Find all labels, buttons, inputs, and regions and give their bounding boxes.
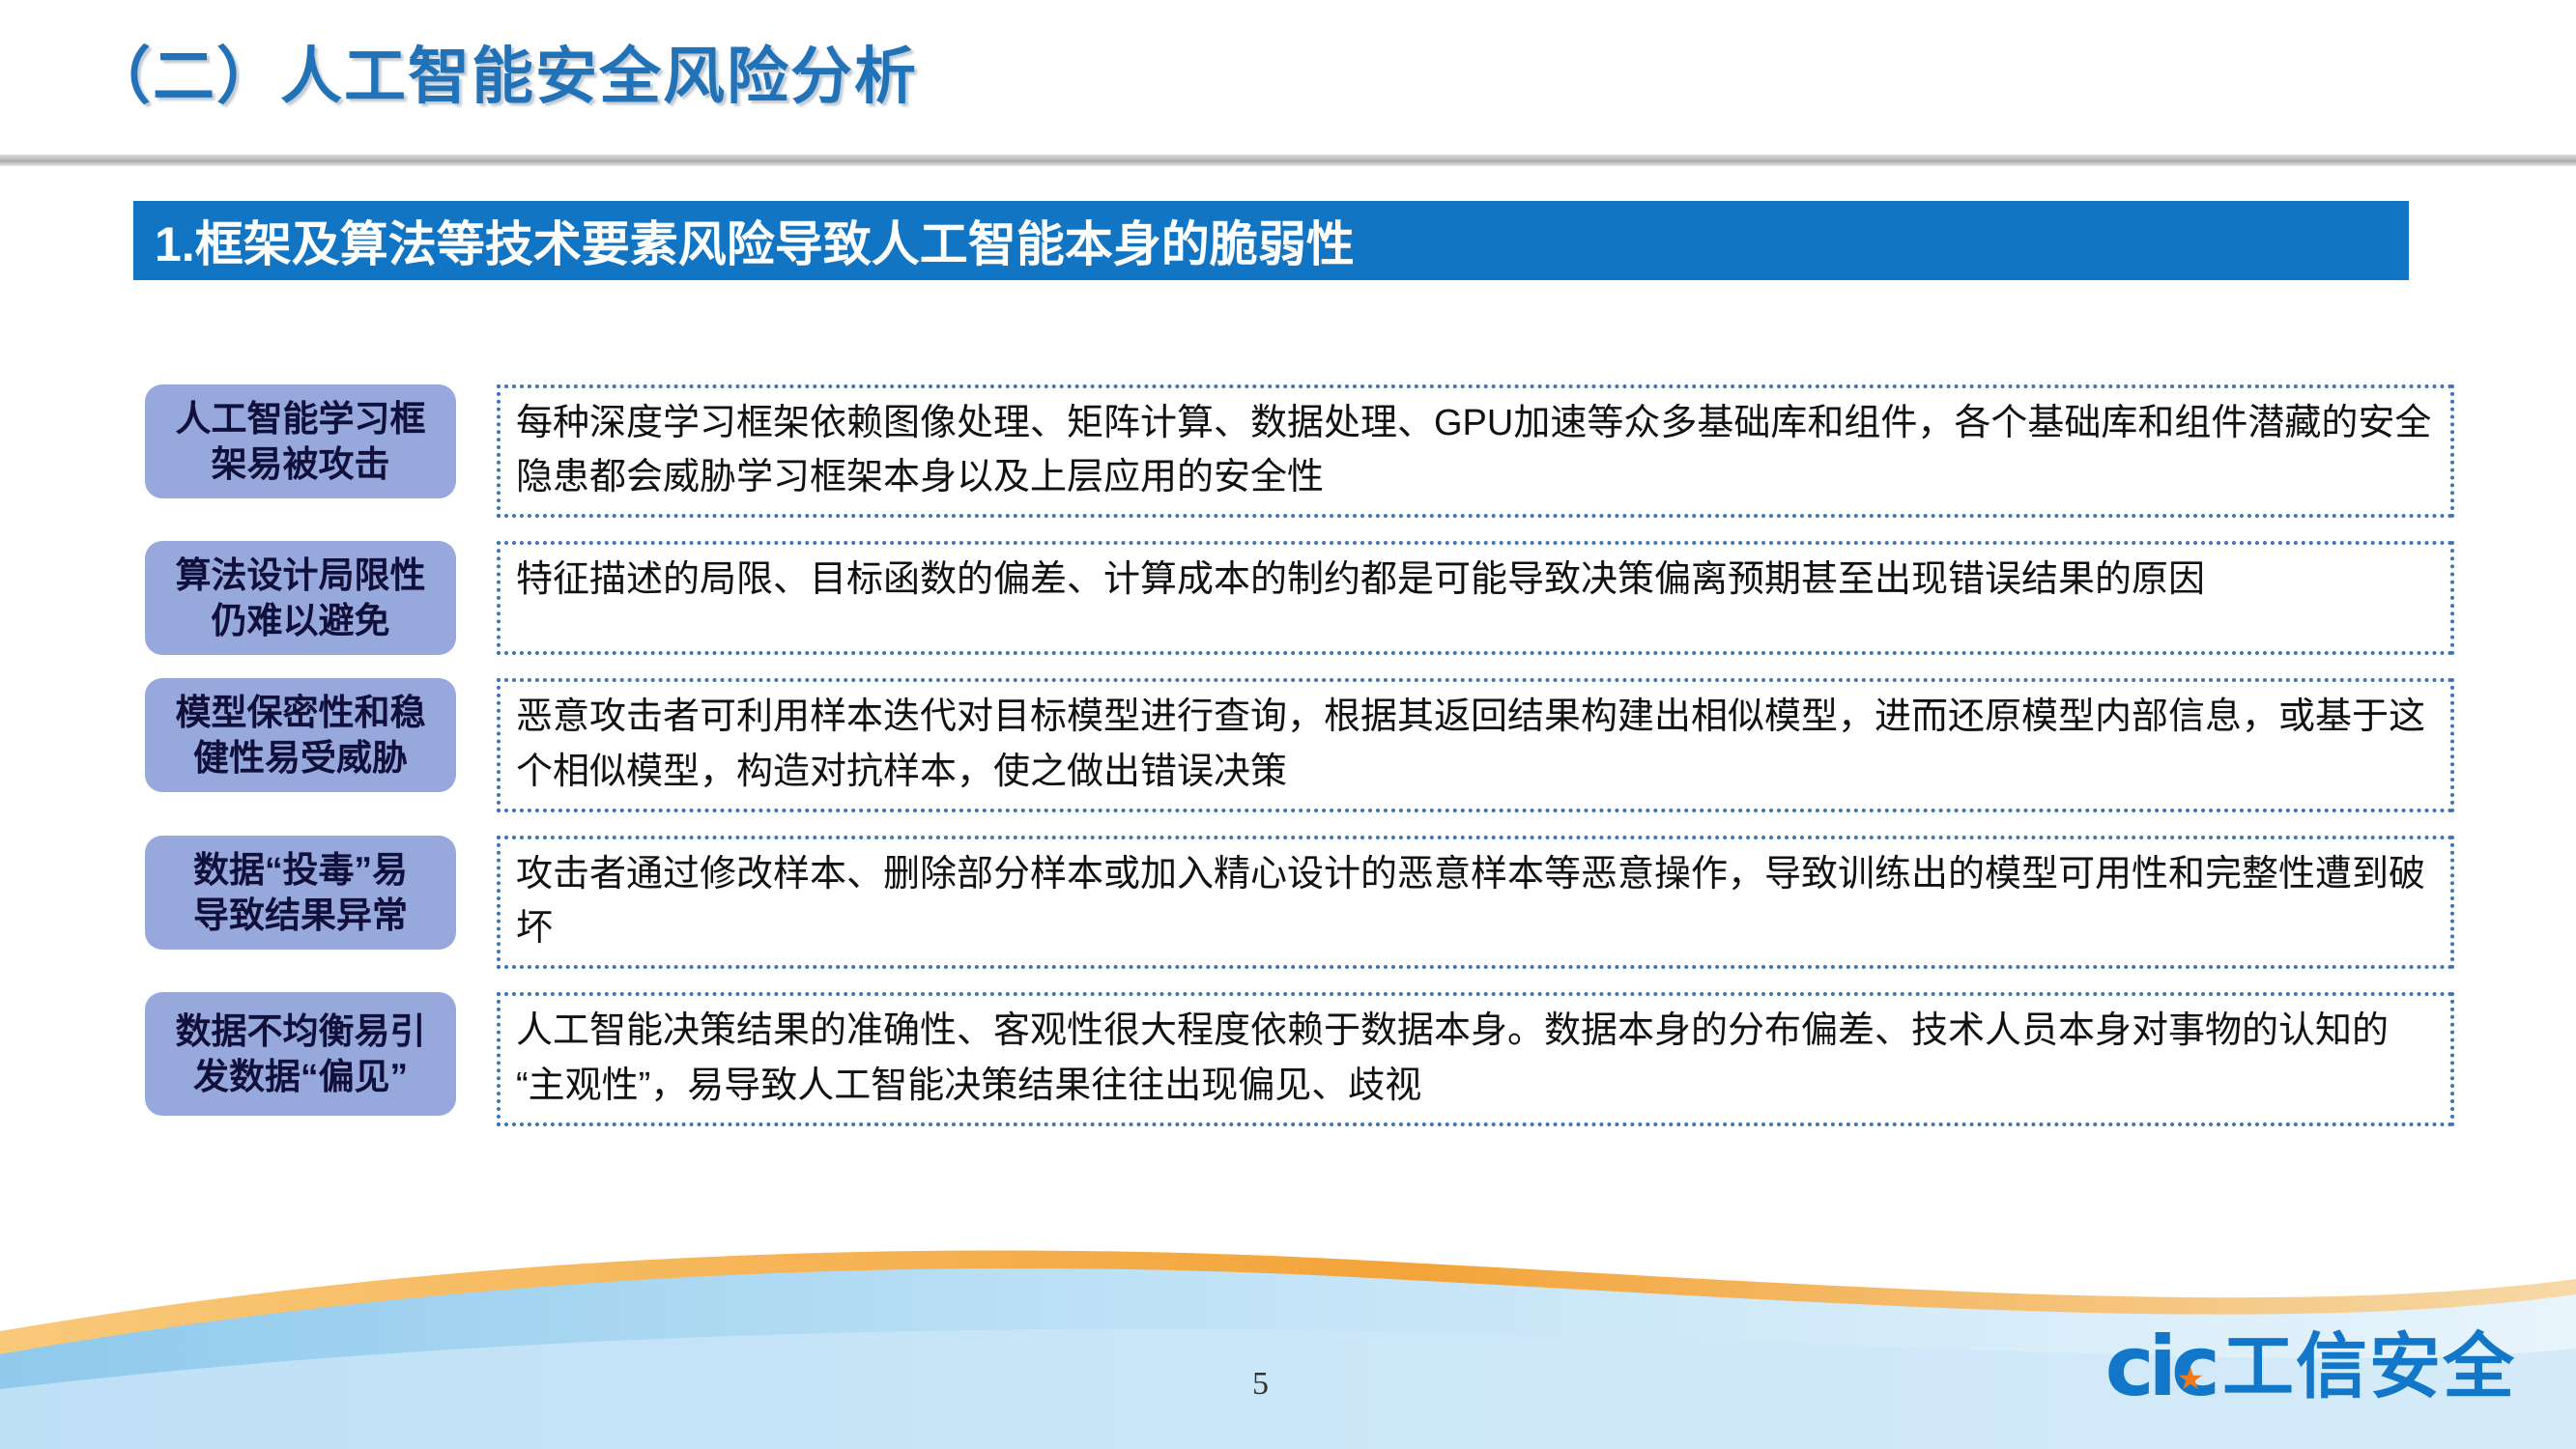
slide: （二）人工智能安全风险分析 1.框架及算法等技术要素风险导致人工智能本身的脆弱性… xyxy=(0,0,2576,1449)
risk-label-0: 人工智能学习框 架易被攻击 xyxy=(145,384,456,498)
title-divider xyxy=(0,155,2576,166)
table-row: 数据不均衡易引 发数据“偏见” 人工智能决策结果的准确性、客观性很大程度依赖于数… xyxy=(145,992,2454,1125)
risk-label-4: 数据不均衡易引 发数据“偏见” xyxy=(145,992,456,1116)
risk-body-3: 攻击者通过修改样本、删除部分样本或加入精心设计的恶意样本等恶意操作，导致训练出的… xyxy=(497,836,2454,969)
logo-mark-icon: cic ★ xyxy=(2105,1325,2215,1408)
table-row: 算法设计局限性 仍难以避免 特征描述的局限、目标函数的偏差、计算成本的制约都是可… xyxy=(145,541,2454,655)
risk-body-2: 恶意攻击者可利用样本迭代对目标模型进行查询，根据其返回结果构建出相似模型，进而还… xyxy=(497,678,2454,811)
risk-label-1: 算法设计局限性 仍难以避免 xyxy=(145,541,456,655)
risk-label-3: 数据“投毒”易 导致结果异常 xyxy=(145,836,456,950)
table-row: 模型保密性和稳 健性易受威胁 恶意攻击者可利用样本迭代对目标模型进行查询，根据其… xyxy=(145,678,2454,811)
risk-label-line1: 模型保密性和稳 xyxy=(176,690,426,735)
table-row: 人工智能学习框 架易被攻击 每种深度学习框架依赖图像处理、矩阵计算、数据处理、G… xyxy=(145,384,2454,518)
risk-label-line1: 算法设计局限性 xyxy=(176,553,426,598)
risk-body-0: 每种深度学习框架依赖图像处理、矩阵计算、数据处理、GPU加速等众多基础库和组件，… xyxy=(497,384,2454,518)
risk-label-line2: 健性易受威胁 xyxy=(176,735,426,781)
risk-row-list: 人工智能学习框 架易被攻击 每种深度学习框架依赖图像处理、矩阵计算、数据处理、G… xyxy=(145,384,2454,1150)
risk-label-2: 模型保密性和稳 健性易受威胁 xyxy=(145,678,456,792)
star-icon: ★ xyxy=(2173,1364,2202,1393)
section-banner: 1.框架及算法等技术要素风险导致人工智能本身的脆弱性 xyxy=(133,201,2409,280)
risk-label-line2: 架易被攻击 xyxy=(176,441,426,487)
risk-label-line1: 数据不均衡易引 xyxy=(176,1009,426,1054)
risk-label-line2: 导致结果异常 xyxy=(193,893,408,938)
logo-company-name: 工信安全 xyxy=(2222,1331,2516,1403)
brand-logo: cic ★ 工信安全 xyxy=(2105,1325,2516,1408)
risk-label-line2: 仍难以避免 xyxy=(176,598,426,643)
risk-label-line1: 数据“投毒”易 xyxy=(193,847,408,893)
section-banner-title: 1.框架及算法等技术要素风险导致人工智能本身的脆弱性 xyxy=(133,206,1355,275)
risk-body-4: 人工智能决策结果的准确性、客观性很大程度依赖于数据本身。数据本身的分布偏差、技术… xyxy=(497,992,2454,1125)
risk-label-line1: 人工智能学习框 xyxy=(176,396,426,441)
page-title: （二）人工智能安全风险分析 xyxy=(89,27,918,116)
risk-label-line2: 发数据“偏见” xyxy=(176,1054,426,1099)
risk-body-1: 特征描述的局限、目标函数的偏差、计算成本的制约都是可能导致决策偏离预期甚至出现错… xyxy=(497,541,2454,655)
table-row: 数据“投毒”易 导致结果异常 攻击者通过修改样本、删除部分样本或加入精心设计的恶… xyxy=(145,836,2454,969)
page-number: 5 xyxy=(1252,1366,1269,1403)
